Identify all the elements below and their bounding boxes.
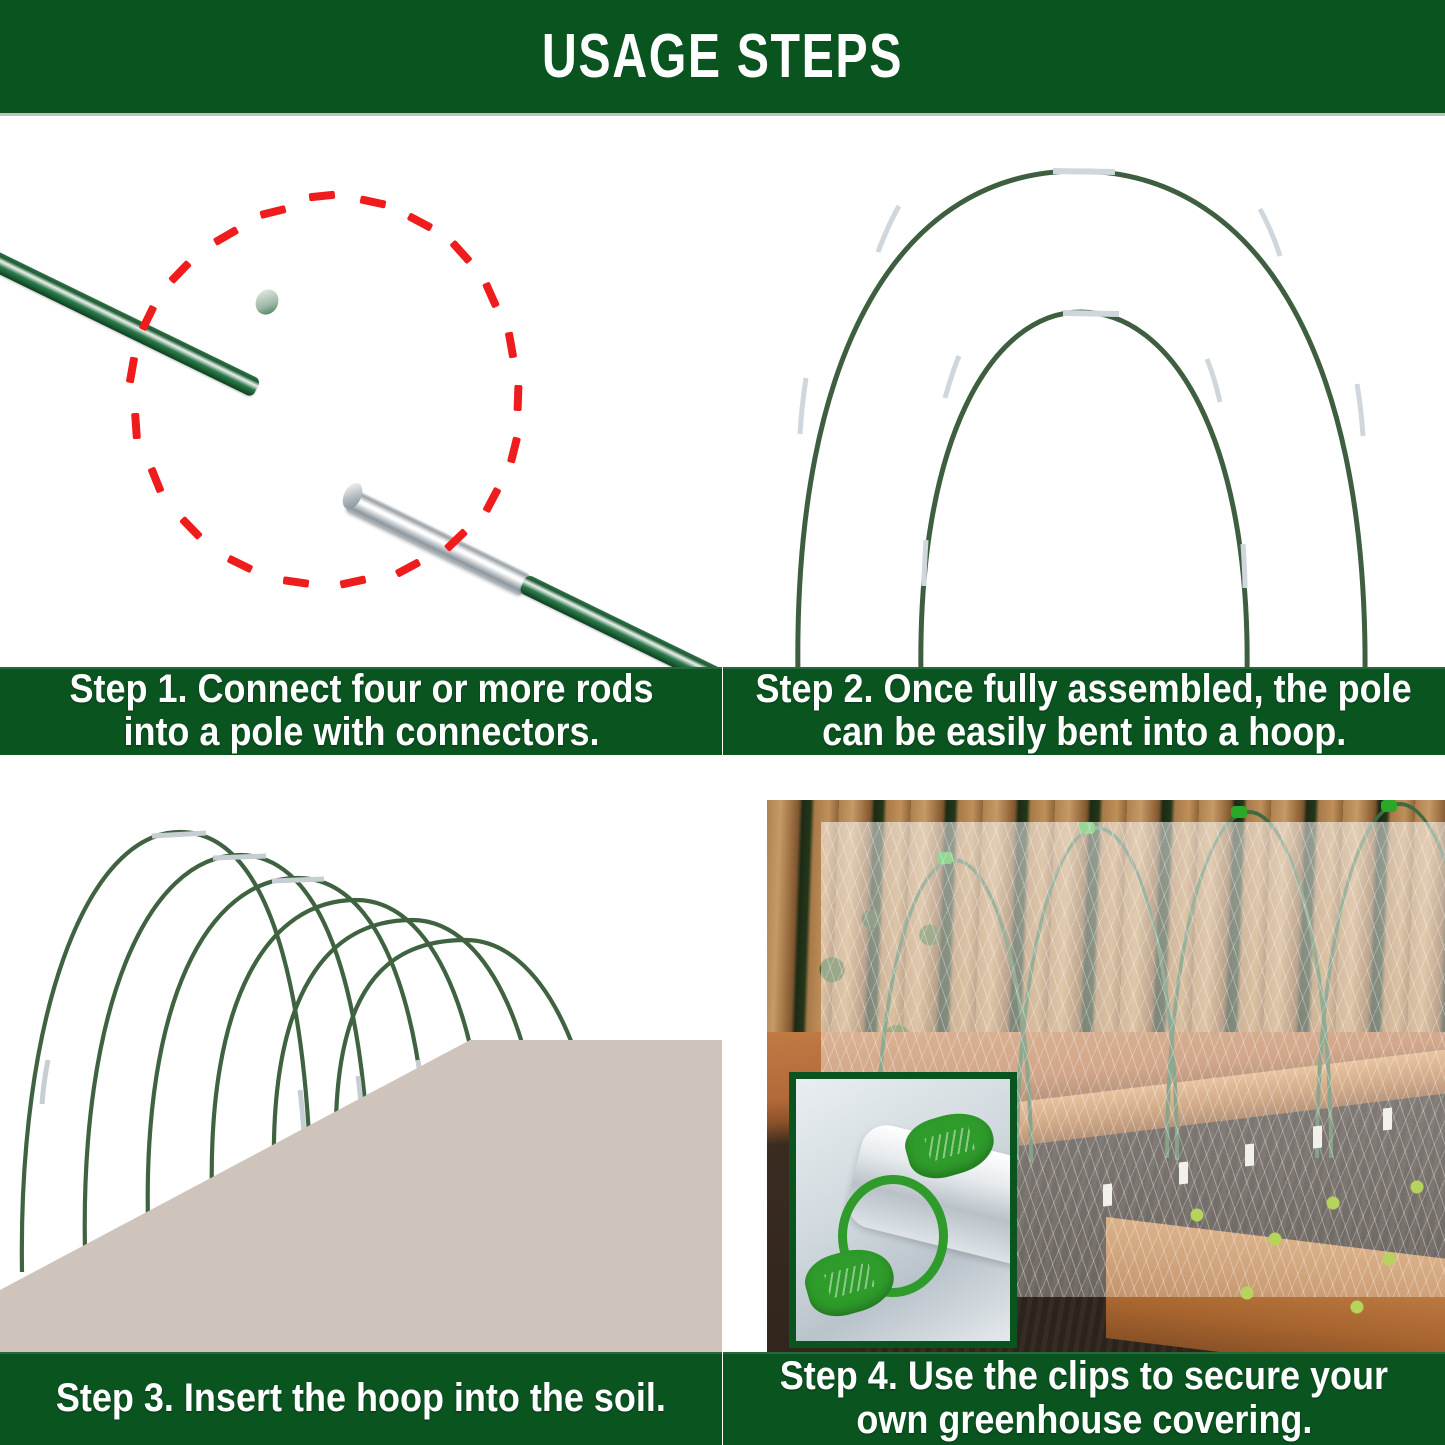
page-title: USAGE STEPS — [542, 21, 903, 92]
step-4-caption-line-2: own greenhouse covering. — [856, 1399, 1312, 1442]
clip-closeup-inset — [789, 1072, 1017, 1348]
step-4-caption: Step 4. Use the clips to secure your own… — [723, 1352, 1445, 1445]
seedling — [1265, 1232, 1285, 1246]
seedling — [1407, 1180, 1427, 1194]
plant-marker — [1103, 1183, 1112, 1206]
step-2-caption-line-2: can be easily bent into a hoop. — [822, 711, 1346, 754]
step-1-caption-line-1: Step 1. Connect four or more rods — [69, 668, 653, 711]
step-2-caption-line-1: Step 2. Once fully assembled, the pole — [756, 668, 1412, 711]
seedling — [1237, 1286, 1257, 1300]
red-dashed-ellipse-highlight — [55, 196, 585, 626]
step-2-illustration — [723, 116, 1445, 667]
bent-hoops-illustration — [723, 116, 1445, 667]
hoop-clip-4 — [1381, 800, 1397, 812]
step-4-illustration — [723, 760, 1445, 1352]
seedling — [1187, 1208, 1207, 1222]
step-3-illustration — [0, 760, 722, 1352]
plant-marker — [1245, 1143, 1254, 1166]
step-2-caption: Step 2. Once fully assembled, the pole c… — [723, 667, 1445, 755]
seedling — [1323, 1196, 1343, 1210]
connector-marks — [800, 171, 1363, 588]
infographic-page: USAGE STEPS — [0, 0, 1445, 1445]
inner-hoop-arc — [921, 312, 1247, 667]
rods-and-connector-illustration — [0, 116, 722, 667]
seedling — [1379, 1252, 1399, 1266]
hoops-in-soil-illustration — [0, 760, 722, 1352]
caption-top-rule — [0, 1352, 722, 1354]
hoop-clip-3 — [1231, 806, 1247, 818]
header-band: USAGE STEPS — [0, 0, 1445, 113]
plant-marker — [1313, 1125, 1322, 1148]
step-3-caption: Step 3. Insert the hoop into the soil. — [0, 1352, 722, 1445]
garden-bed-photo — [767, 800, 1445, 1352]
seedling — [1347, 1300, 1367, 1314]
hoop-arcs-svg — [723, 116, 1445, 667]
plant-marker — [1179, 1161, 1188, 1184]
step-4-caption-line-1: Step 4. Use the clips to secure your — [780, 1355, 1388, 1398]
plant-marker — [1383, 1107, 1392, 1130]
step-1-caption-line-2: into a pole with connectors. — [123, 711, 599, 754]
step-3-caption-line-1: Step 3. Insert the hoop into the soil. — [56, 1377, 666, 1420]
step-1-caption: Step 1. Connect four or more rods into a… — [0, 667, 722, 755]
step-1-illustration — [0, 116, 722, 667]
